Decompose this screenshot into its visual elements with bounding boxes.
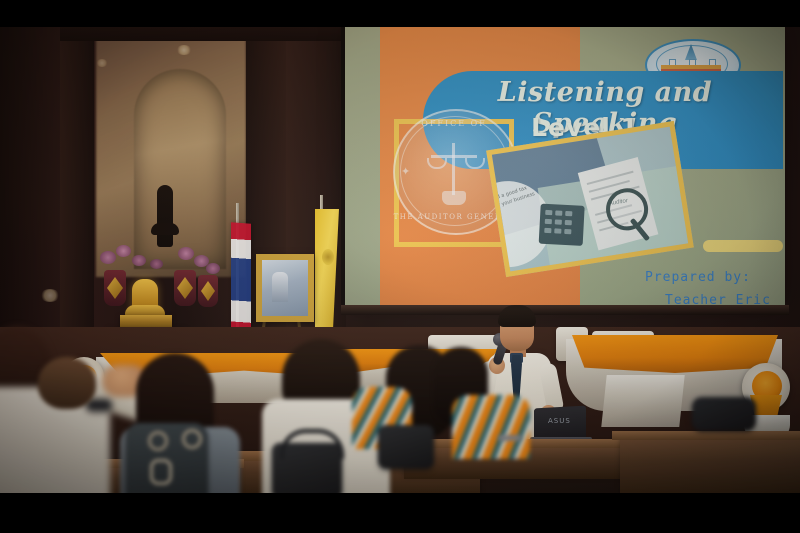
standing-buddha-statue xyxy=(157,185,173,247)
projection-screen: Listening and Speaking Level 1 OFFICE OF… xyxy=(345,27,785,305)
scales-pan-left xyxy=(427,158,447,169)
ceiling-spotlight-2 xyxy=(96,59,108,67)
phone-on-desk xyxy=(498,435,522,441)
flower-7 xyxy=(150,259,163,269)
flower-1 xyxy=(100,251,116,264)
audience-2-hair xyxy=(38,357,96,409)
ceiling-beam xyxy=(60,27,350,41)
royal-flag-emblem-icon xyxy=(322,249,334,265)
scales-post xyxy=(452,143,455,195)
scales-base xyxy=(442,191,466,205)
ceiling-spotlight-1 xyxy=(176,45,192,55)
stage-drape-skirt xyxy=(601,375,684,427)
wall-column-left xyxy=(60,27,94,327)
letterbox-bar-top xyxy=(0,0,800,27)
desk-row-far-right xyxy=(620,437,800,493)
audience-6-bag xyxy=(692,397,756,431)
flower-4 xyxy=(178,247,194,260)
backpack-strap-loop-left xyxy=(148,431,168,451)
audience-5-bag xyxy=(378,425,434,469)
backpack-buckle xyxy=(150,459,172,485)
wall-lamp xyxy=(40,289,60,302)
prepared-by-label: Prepared by: xyxy=(645,270,751,285)
desk-top-far-right xyxy=(612,431,800,440)
stage-drape-orange-right xyxy=(572,335,778,373)
thai-national-flag xyxy=(231,222,251,341)
auditorium-room: Listening and Speaking Level 1 OFFICE OF… xyxy=(0,27,800,493)
laptop-brand-label: ASUS xyxy=(548,417,571,425)
flower-3 xyxy=(132,255,146,266)
framed-portrait-on-easel xyxy=(256,254,314,322)
portrait-figure xyxy=(272,272,288,302)
flower-2 xyxy=(116,245,131,257)
flower-6 xyxy=(206,263,220,274)
wall-left-edge xyxy=(0,27,62,357)
wall-arch-niche xyxy=(134,69,226,269)
scales-of-justice-icon xyxy=(427,139,481,209)
calculator-icon xyxy=(539,204,585,246)
backpack-strap-loop-right xyxy=(182,429,202,449)
slide-yellow-accent-bar xyxy=(703,240,783,252)
projected-slide: Listening and Speaking Level 1 OFFICE OF… xyxy=(345,27,785,305)
letterbox-bar-bottom xyxy=(0,493,800,533)
slide-panel-olive-left xyxy=(345,27,380,305)
screen-bottom-rail xyxy=(341,305,789,315)
presenter-hair xyxy=(498,305,536,327)
seal-star-left: ✦ xyxy=(401,165,410,178)
seal-text-top: OFFICE OF xyxy=(393,119,515,128)
audience-6-patterned-top xyxy=(452,395,530,459)
prepared-by-name: Teacher Eric xyxy=(665,293,771,305)
screenshot-root: Listening and Speaking Level 1 OFFICE OF… xyxy=(0,0,800,533)
golden-buddha-statue xyxy=(132,279,158,319)
